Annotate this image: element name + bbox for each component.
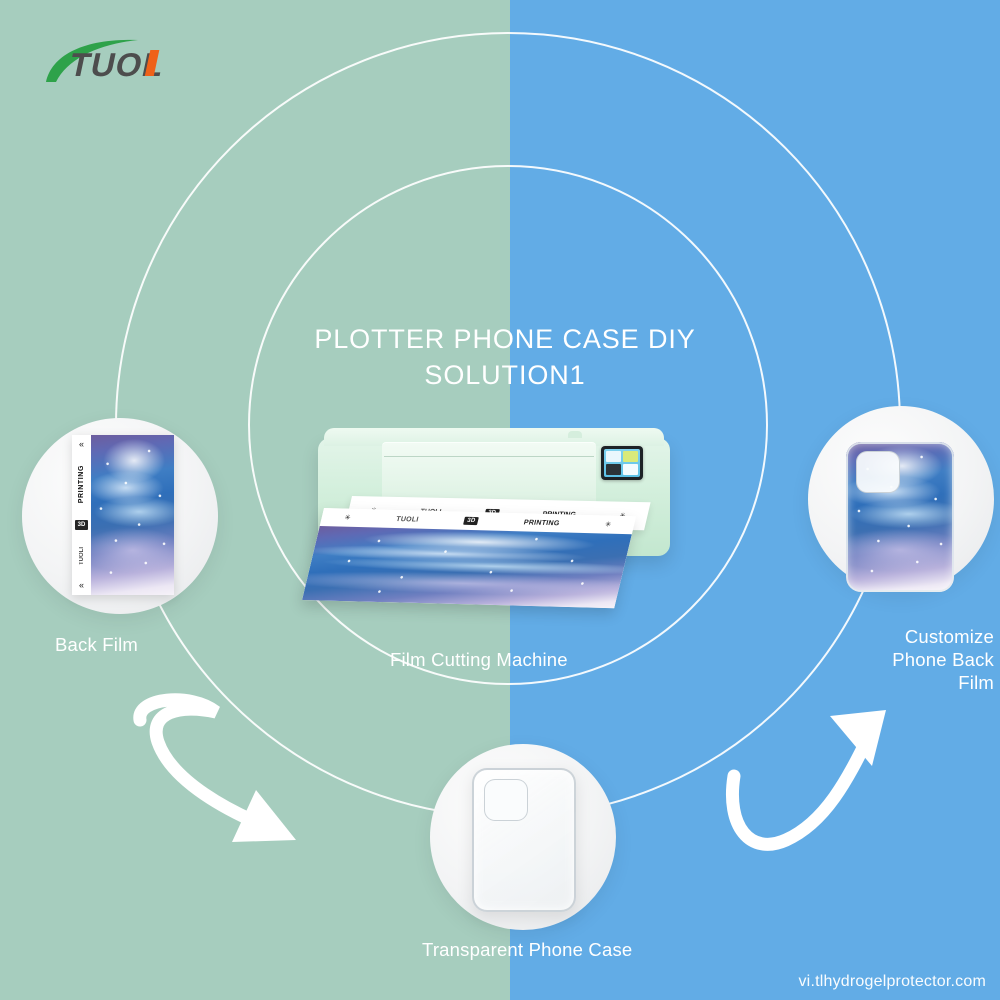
lcd-tile-1 xyxy=(606,451,621,462)
sheet-printing-label: PRINTING xyxy=(523,519,560,527)
sheet-aurora-artwork xyxy=(302,526,632,608)
arrow-case-to-customize xyxy=(690,676,910,876)
film-3d-badge: 3D xyxy=(75,520,89,530)
machine-panel-seam xyxy=(384,456,594,457)
tuoli-logo: TUOL xyxy=(38,28,218,90)
sheet-cut-mark-right: ✳ xyxy=(604,520,612,528)
machine-output-sheet: ✳ TUOLI 3D PRINTING ✳ xyxy=(302,508,636,608)
sheet-3d-badge: 3D xyxy=(463,517,479,525)
lcd-tile-3 xyxy=(606,464,621,475)
arrow-back-film-to-case xyxy=(120,690,340,880)
film-sheet-margin-strip: « PRINTING 3D TUOLI « xyxy=(72,435,91,595)
chevron-mark-bottom: « xyxy=(79,581,84,590)
sheet-cut-mark-left: ✳ xyxy=(344,514,352,522)
camera-cutout xyxy=(856,451,900,493)
film-printing-label: PRINTING xyxy=(78,465,85,503)
back-film-sheet: « PRINTING 3D TUOLI « xyxy=(72,435,174,595)
chevron-mark-top: « xyxy=(79,440,84,449)
transparent-phone-case-label: Transparent Phone Case xyxy=(422,938,632,961)
lcd-tile-4 xyxy=(623,464,638,475)
site-url: vi.tlhydrogelprotector.com xyxy=(798,973,986,991)
page-title: PLOTTER PHONE CASE DIY SOLUTION1 xyxy=(180,322,830,393)
film-brand-mark: TUOLI xyxy=(79,547,85,565)
machine-knob xyxy=(568,431,582,438)
tuoli-logo-svg: TUOL xyxy=(38,28,218,90)
sheet-brand-mark: TUOLI xyxy=(395,515,419,523)
page-title-line-1: PLOTTER PHONE CASE DIY xyxy=(180,322,830,358)
inner-ring-decoration xyxy=(248,165,768,685)
aurora-artwork xyxy=(91,435,174,595)
logo-wordmark: TUOL xyxy=(66,47,168,84)
customize-label-line-1: Customize xyxy=(905,626,994,647)
back-film-label: Back Film xyxy=(55,633,138,656)
transparent-phone-case xyxy=(472,768,576,912)
poster-canvas: TUOL PLOTTER PHONE CASE DIY SOLUTION1 « … xyxy=(0,0,1000,1000)
machine-lcd-screen[interactable] xyxy=(601,446,643,480)
page-title-line-2: SOLUTION1 xyxy=(180,358,830,394)
machine-lcd-content xyxy=(604,449,640,477)
customized-phone-case xyxy=(846,442,954,592)
film-cutting-machine-label: Film Cutting Machine xyxy=(390,648,568,671)
camera-cutout xyxy=(484,779,528,821)
lcd-tile-2 xyxy=(623,451,638,462)
